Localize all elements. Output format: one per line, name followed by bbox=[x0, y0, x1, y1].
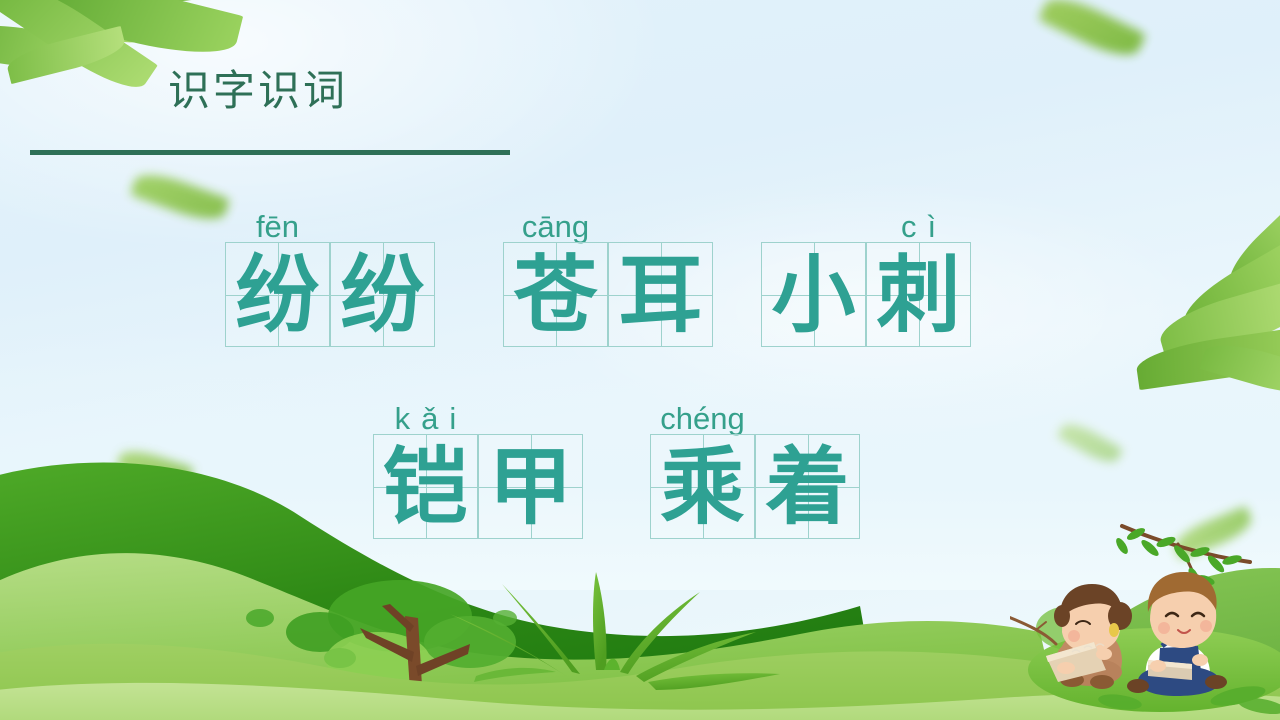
character-glyph: 耳 bbox=[609, 243, 712, 346]
character-cell[interactable]: 纷 bbox=[330, 242, 435, 347]
character-glyph: 刺 bbox=[867, 243, 970, 346]
leaf-icon bbox=[1200, 336, 1280, 402]
leaf-icon bbox=[0, 18, 92, 75]
leaf-icon bbox=[1134, 326, 1280, 390]
character-glyph: 乘 bbox=[651, 435, 754, 538]
word-group-chengzhe[interactable]: chéng . 乘 着 bbox=[650, 388, 860, 539]
character-cell[interactable]: 苍 bbox=[503, 242, 608, 347]
title-underline bbox=[30, 150, 510, 155]
pinyin-label: cāng bbox=[503, 211, 608, 242]
floating-leaf-icon bbox=[130, 166, 230, 227]
pinyin-row: chéng . bbox=[650, 388, 860, 434]
pinyin-spacer: . bbox=[755, 403, 860, 434]
pinyin-label: fēn bbox=[225, 211, 330, 242]
character-cell[interactable]: 乘 bbox=[650, 434, 755, 539]
character-row: 乘 着 bbox=[650, 434, 860, 539]
character-cell[interactable]: 甲 bbox=[478, 434, 583, 539]
character-cell[interactable]: 纷 bbox=[225, 242, 330, 347]
leaf-icon bbox=[1220, 196, 1280, 295]
character-glyph: 着 bbox=[756, 435, 859, 538]
floating-leaf-icon bbox=[1038, 0, 1146, 65]
character-cell[interactable]: 铠 bbox=[373, 434, 478, 539]
pinyin-row: kǎi . bbox=[373, 388, 583, 434]
pinyin-spacer: . bbox=[761, 211, 866, 242]
character-glyph: 小 bbox=[762, 243, 865, 346]
pinyin-spacer: . bbox=[330, 211, 435, 242]
pinyin-row: cāng . bbox=[503, 196, 713, 242]
word-row-2: kǎi . 铠 甲 chéng . 乘 bbox=[373, 388, 860, 539]
character-glyph: 甲 bbox=[479, 435, 582, 538]
word-row-1: fēn . 纷 纷 cāng . 苍 耳 bbox=[225, 196, 971, 347]
pinyin-label: kǎi bbox=[373, 403, 478, 434]
character-cell[interactable]: 着 bbox=[755, 434, 860, 539]
leaf-icon bbox=[0, 0, 158, 59]
pinyin-label: cì bbox=[866, 211, 971, 242]
leaf-icon bbox=[0, 0, 158, 102]
leaf-icon bbox=[1175, 236, 1280, 341]
character-row: 纷 纷 bbox=[225, 242, 435, 347]
character-glyph: 铠 bbox=[374, 435, 477, 538]
character-glyph: 纷 bbox=[331, 243, 434, 346]
leaf-icon bbox=[95, 0, 247, 7]
word-group-xiaoci[interactable]: . cì 小 刺 bbox=[761, 196, 971, 347]
leaf-icon bbox=[27, 0, 243, 67]
word-group-fen[interactable]: fēn . 纷 纷 bbox=[225, 196, 435, 347]
page-title: 识字识词 bbox=[168, 70, 348, 112]
word-group-kaijia[interactable]: kǎi . 铠 甲 bbox=[373, 388, 583, 539]
pinyin-label: chéng bbox=[650, 403, 755, 434]
leaf-icon bbox=[1155, 278, 1280, 364]
leaf-icon bbox=[4, 26, 128, 84]
character-row: 铠 甲 bbox=[373, 434, 583, 539]
children-reading-illustration bbox=[1010, 520, 1280, 720]
character-glyph: 苍 bbox=[504, 243, 607, 346]
character-cell[interactable]: 刺 bbox=[866, 242, 971, 347]
pinyin-row: fēn . bbox=[225, 196, 435, 242]
character-row: 小 刺 bbox=[761, 242, 971, 347]
slide-canvas: 识字识词 fēn . 纷 纷 cāng . bbox=[0, 0, 1280, 720]
pinyin-row: . cì bbox=[761, 196, 971, 242]
pinyin-spacer: . bbox=[608, 211, 713, 242]
character-cell[interactable]: 耳 bbox=[608, 242, 713, 347]
page-title-text: 识字识词 bbox=[168, 70, 348, 112]
character-cell[interactable]: 小 bbox=[761, 242, 866, 347]
pinyin-spacer: . bbox=[478, 403, 583, 434]
character-glyph: 纷 bbox=[226, 243, 329, 346]
character-row: 苍 耳 bbox=[503, 242, 713, 347]
word-group-cangerr[interactable]: cāng . 苍 耳 bbox=[503, 196, 713, 347]
